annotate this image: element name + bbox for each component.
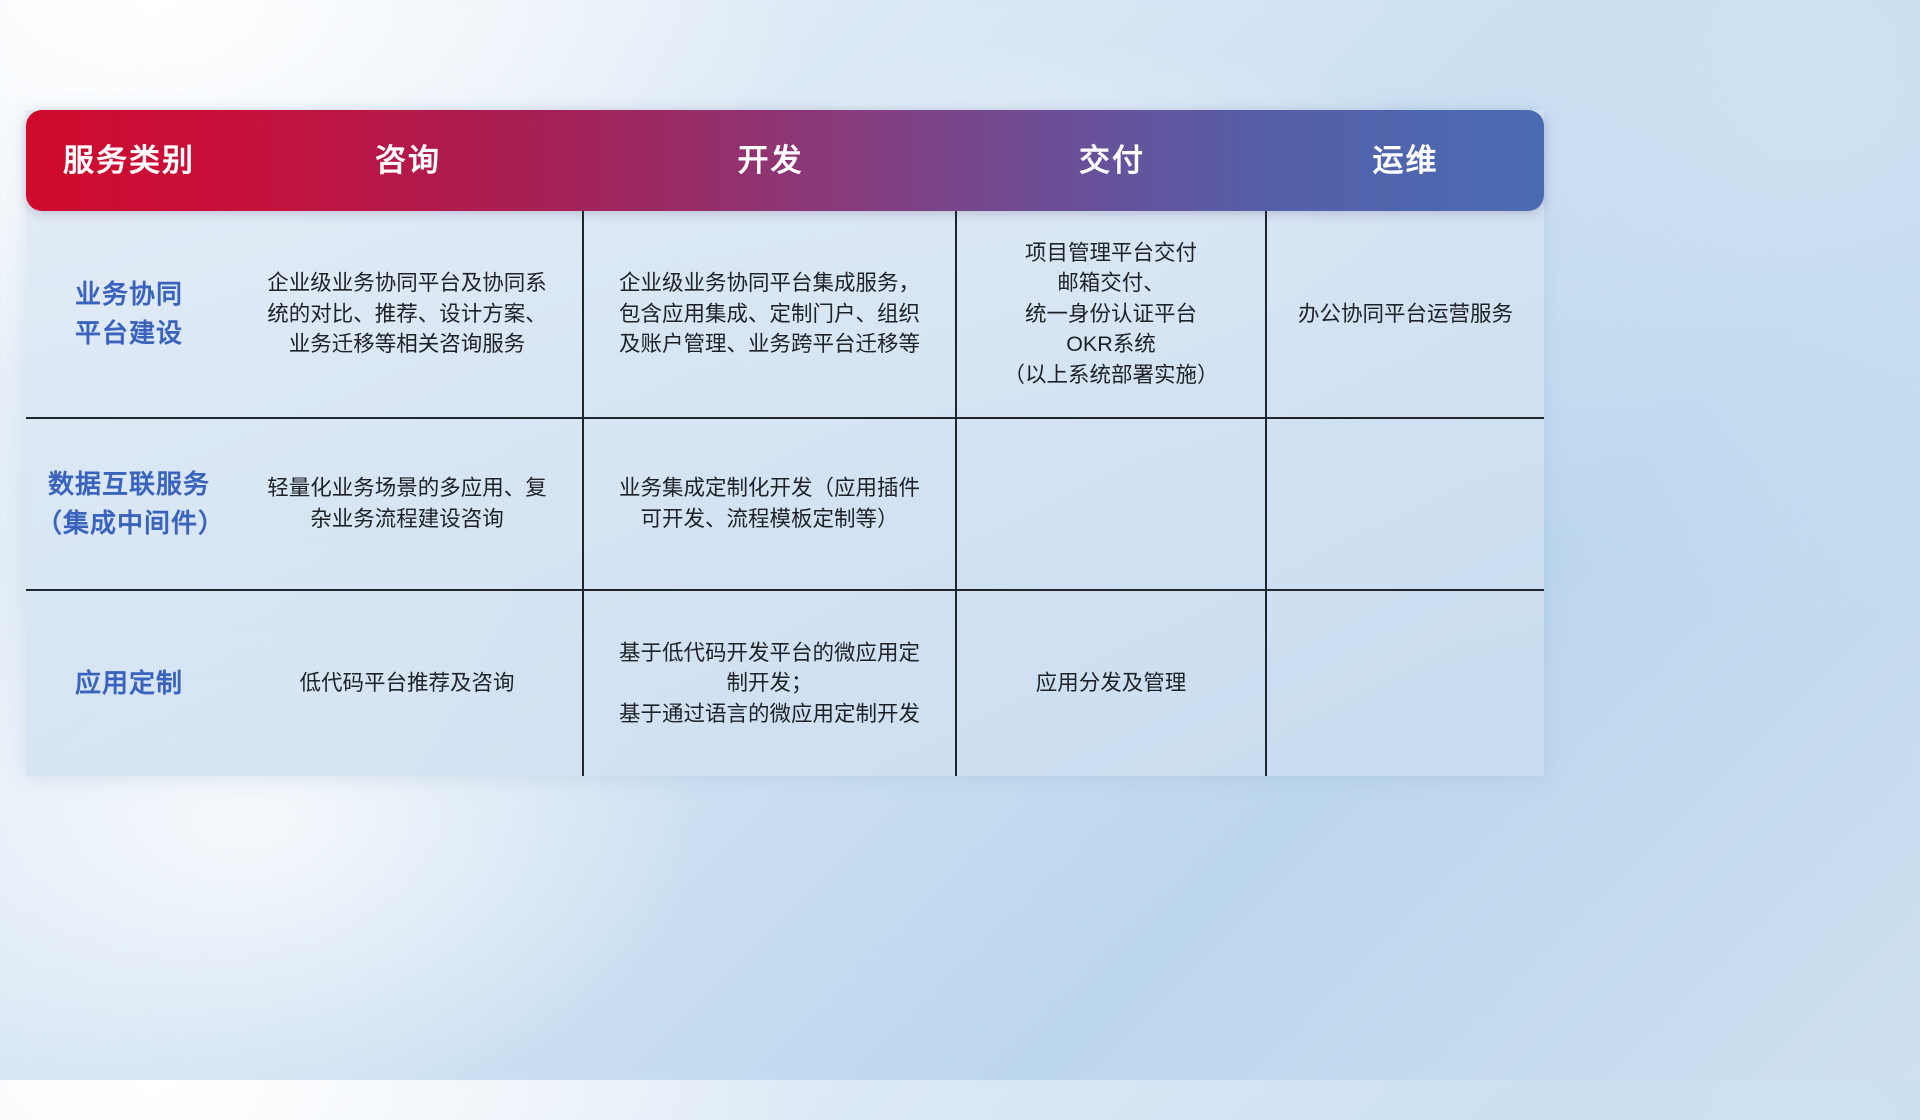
cell-delivery: 项目管理平台交付 邮箱交付、 统一身份认证平台 OKR系统 （以上系统部署实施） bbox=[957, 211, 1267, 417]
cell-development: 基于低代码开发平台的微应用定 制开发； 基于通过语言的微应用定制开发 bbox=[584, 591, 957, 776]
cell-consulting: 轻量化业务场景的多应用、复 杂业务流程建设咨询 bbox=[232, 419, 584, 589]
cell-operations: 办公协同平台运营服务 bbox=[1267, 211, 1544, 417]
table-header-row: 服务类别 咨询 开发 交付 运维 bbox=[26, 110, 1544, 211]
row-category-label: 业务协同 平台建设 bbox=[26, 211, 232, 417]
column-header-consulting: 咨询 bbox=[232, 145, 584, 176]
column-header-category: 服务类别 bbox=[26, 145, 232, 176]
cell-consulting: 企业级业务协同平台及协同系 统的对比、推荐、设计方案、 业务迁移等相关咨询服务 bbox=[232, 211, 584, 417]
table-row: 应用定制 低代码平台推荐及咨询 基于低代码开发平台的微应用定 制开发； 基于通过… bbox=[26, 591, 1544, 776]
cell-operations bbox=[1267, 591, 1544, 776]
row-category-label: 应用定制 bbox=[26, 591, 232, 776]
table-body: 业务协同 平台建设 企业级业务协同平台及协同系 统的对比、推荐、设计方案、 业务… bbox=[26, 211, 1544, 776]
table-row: 业务协同 平台建设 企业级业务协同平台及协同系 统的对比、推荐、设计方案、 业务… bbox=[26, 211, 1544, 419]
cell-consulting: 低代码平台推荐及咨询 bbox=[232, 591, 584, 776]
cell-operations bbox=[1267, 419, 1544, 589]
table-row: 数据互联服务 （集成中间件） 轻量化业务场景的多应用、复 杂业务流程建设咨询 业… bbox=[26, 419, 1544, 591]
cell-development: 业务集成定制化开发（应用插件 可开发、流程模板定制等） bbox=[584, 419, 957, 589]
cell-development: 企业级业务协同平台集成服务， 包含应用集成、定制门户、组织 及账户管理、业务跨平… bbox=[584, 211, 957, 417]
row-category-label: 数据互联服务 （集成中间件） bbox=[26, 419, 232, 589]
column-header-operations: 运维 bbox=[1267, 145, 1544, 176]
column-header-development: 开发 bbox=[584, 145, 957, 176]
slide-canvas: 服务类别 咨询 开发 交付 运维 业务协同 平台建设 企业级业务协同平台及协同系… bbox=[0, 0, 1920, 1080]
cell-delivery bbox=[957, 419, 1267, 589]
cell-delivery: 应用分发及管理 bbox=[957, 591, 1267, 776]
column-header-delivery: 交付 bbox=[957, 145, 1267, 176]
